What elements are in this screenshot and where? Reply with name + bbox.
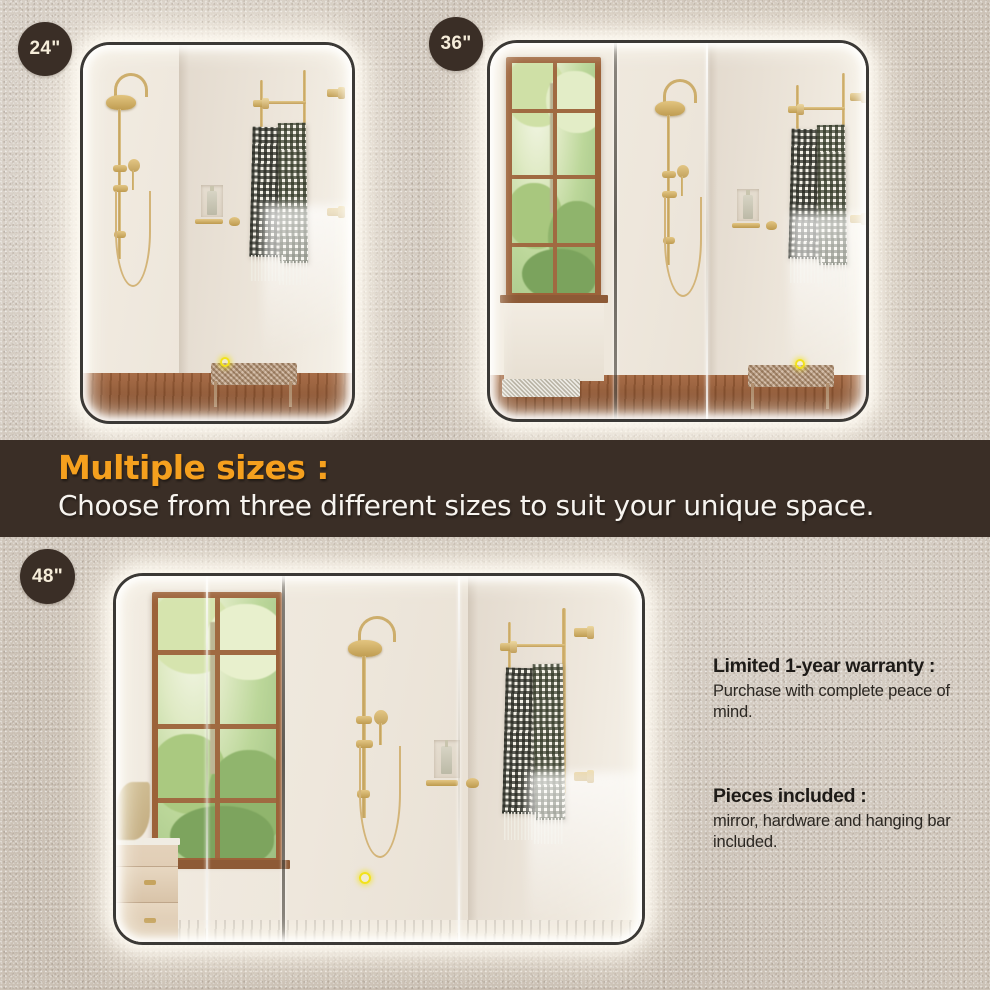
mirror-36-reflection [490, 43, 866, 419]
towel-fringe-green [279, 261, 307, 285]
foliage-blob-5 [522, 249, 595, 293]
feature-warranty-title: Limited 1-year warranty : [713, 655, 971, 678]
decor-plant [116, 782, 150, 840]
feature-warranty: Limited 1-year warranty : Purchase with … [713, 655, 971, 724]
wall-bracket-lower-right [574, 772, 590, 781]
tap-knob [466, 778, 479, 788]
tap-knob [229, 217, 240, 226]
wooden-floor [116, 920, 642, 942]
shower-arm-icon [114, 73, 148, 97]
vanity-pull-top [144, 880, 156, 885]
led-touch-sensor[interactable] [795, 359, 805, 369]
checkered-towel-green [533, 664, 566, 820]
shower-hose [359, 746, 401, 858]
window-mullion-h2 [158, 724, 276, 729]
bench-leg-right [826, 383, 829, 409]
shower-head-icon [106, 95, 136, 110]
feature-warranty-body: Purchase with complete peace of mind. [713, 681, 971, 724]
window-mullion-h1 [512, 109, 595, 113]
under-window-cabinet [504, 303, 604, 381]
shampoo-bottle [207, 191, 217, 215]
wall-bracket-top-right [327, 89, 341, 97]
wall-bracket-lower-right [327, 208, 341, 216]
wall-bracket-top-right [574, 628, 590, 637]
bath-mat [502, 379, 580, 397]
bench-leg-right [289, 381, 292, 407]
multiple-sizes-banner: Multiple sizes : Choose from three diffe… [0, 440, 990, 537]
window-mullion-h3 [158, 798, 276, 803]
window-sill [500, 295, 608, 303]
handheld-stem [132, 170, 134, 190]
cabinet-door-seam-3 [458, 576, 460, 942]
shower-fixture [101, 73, 171, 303]
bath-spout [426, 780, 458, 786]
bath-spout [195, 219, 223, 224]
size-badge-24-label: 24" [29, 38, 60, 60]
banner-title: Multiple sizes : [58, 448, 329, 487]
feature-pieces: Pieces included : mirror, hardware and h… [713, 785, 971, 854]
garden-window [506, 57, 601, 299]
shower-arm-icon [358, 616, 396, 642]
mirror-48-reflection [116, 576, 642, 942]
window-mullion-h3 [512, 243, 595, 247]
feature-pieces-title: Pieces included : [713, 785, 971, 808]
handheld-stem [379, 723, 382, 745]
ladder-bracket-upper [788, 106, 800, 113]
cabinet-door-seam-2 [706, 43, 708, 419]
wall-corner-shadow [468, 576, 478, 942]
shower-fixture [650, 79, 720, 309]
tap-knob [766, 221, 777, 230]
checkered-towel-green [278, 123, 308, 263]
towel-fringe-green [818, 263, 846, 287]
mirror-48[interactable] [113, 573, 645, 945]
ladder-bracket-upper [500, 643, 513, 651]
bath-spout [732, 223, 760, 228]
shower-hose [115, 191, 151, 287]
size-badge-36-label: 36" [440, 33, 471, 55]
foliage-blob-5 [170, 806, 274, 858]
led-touch-sensor[interactable] [220, 357, 230, 367]
led-touch-sensor[interactable] [359, 872, 371, 884]
size-badge-24: 24" [18, 22, 72, 76]
ladder-bracket-upper [253, 100, 265, 107]
towel-fringe-green [534, 818, 564, 844]
size-badge-48: 48" [20, 549, 75, 604]
wall-bracket-top-right [850, 93, 864, 101]
cabinet-door-seam-1 [206, 576, 208, 942]
mirror-24-reflection [83, 45, 352, 421]
shower-valve-upper [662, 171, 676, 178]
shower-fixture [344, 616, 420, 866]
window-mullion-h1 [158, 650, 276, 655]
checkered-towel-green [817, 125, 847, 265]
shampoo-bottle [441, 746, 452, 774]
shower-head-icon [655, 101, 685, 116]
vanity-pull-bottom [144, 918, 156, 923]
handheld-stem [681, 176, 683, 196]
infographic-page: 24" 36" 48" Multiple sizes : Choose from… [0, 0, 990, 990]
shower-valve-upper [356, 716, 372, 724]
shower-head-icon [348, 640, 382, 657]
woven-bench-seat [748, 365, 834, 387]
shower-hose [664, 197, 702, 297]
bench-leg-left [214, 381, 217, 407]
size-badge-48-label: 48" [32, 566, 63, 588]
shampoo-bottle [743, 195, 753, 219]
mirror-36[interactable] [487, 40, 869, 422]
wall-bracket-lower-right [850, 215, 864, 223]
mirror-24[interactable] [80, 42, 355, 424]
shower-arm-icon [663, 79, 697, 103]
cabinet-door-seam-1 [614, 43, 617, 419]
cabinet-door-seam-2 [282, 576, 285, 942]
window-mullion-h2 [512, 175, 595, 179]
feature-pieces-body: mirror, hardware and hanging bar include… [713, 811, 971, 854]
banner-subtitle: Choose from three different sizes to sui… [58, 489, 874, 522]
wall-corner-shadow [179, 45, 189, 421]
garden-window [152, 592, 282, 864]
shower-valve-upper [113, 165, 127, 172]
bench-leg-left [751, 383, 754, 409]
size-badge-36: 36" [429, 17, 483, 71]
